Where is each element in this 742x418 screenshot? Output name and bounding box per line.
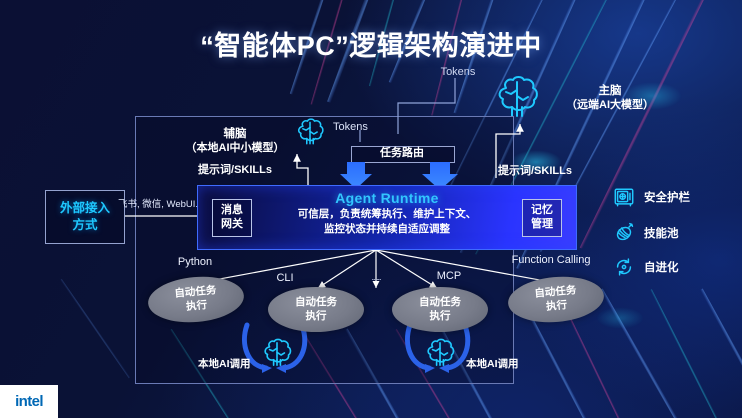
exec-line2: 执行	[306, 310, 327, 322]
evolution-cycle-icon	[613, 256, 635, 278]
capability-row-skill-pool[interactable]: 技能池	[613, 222, 679, 244]
capability-row-self-evolution[interactable]: 自进化	[613, 256, 679, 278]
memory-line1: 记忆	[531, 204, 553, 216]
branch-label-mcp: MCP	[422, 270, 476, 282]
capability-row-guardrail[interactable]: 安全护栏	[613, 186, 690, 208]
local-ai-label-left: 本地AI调用	[198, 356, 251, 371]
exec-line1: 自动任务	[295, 296, 337, 308]
capability-label-guardrail: 安全护栏	[644, 189, 690, 205]
memory-line2: 管理	[531, 218, 553, 230]
brain-icon-local-right	[419, 336, 461, 374]
external-access-box[interactable]: 外部接入 方式	[45, 190, 125, 244]
brain-icon-local-left	[256, 336, 298, 374]
agent-runtime-title: Agent Runtime	[198, 190, 576, 206]
capability-label-self-evolution: 自进化	[644, 259, 679, 275]
gateway-line1: 消息	[221, 204, 243, 216]
intel-wordmark: intel	[15, 393, 43, 410]
external-channels-label: 飞书, 微信, WebUI...	[118, 196, 203, 210]
exec-line1: 自动任务	[419, 296, 461, 308]
branch-label-python: Python	[160, 256, 230, 268]
runtime-desc-line2: 监控状态并持续自适应调整	[324, 223, 450, 235]
external-access-line2: 方式	[72, 218, 97, 232]
auto-task-ellipse-mcp[interactable]: 自动任务 执行	[392, 287, 488, 332]
branch-label-ellipsis: ......	[352, 272, 400, 282]
runtime-desc-line1: 可信层，负责统筹执行、维护上下文、	[298, 208, 477, 220]
local-ai-label-right: 本地AI调用	[466, 356, 519, 371]
slide-canvas: “智能体PC”逻辑架构演进中 Tokens 主脑 （远端AI大模型） 辅脑 （本…	[0, 0, 742, 418]
exec-line2: 执行	[430, 310, 451, 322]
exec-line1: 自动任务	[174, 285, 217, 301]
memory-management-chip[interactable]: 记忆 管理	[522, 199, 562, 237]
branch-label-function-calling: Function Calling	[496, 254, 606, 266]
agent-runtime-description: 可信层，负责统筹执行、维护上下文、 监控状态并持续自适应调整	[258, 207, 516, 237]
exec-line2: 执行	[546, 299, 568, 313]
agent-runtime-panel[interactable]: Agent Runtime 可信层，负责统筹执行、维护上下文、 监控状态并持续自…	[197, 185, 577, 250]
external-access-line1: 外部接入	[60, 201, 110, 215]
safe-vault-icon	[613, 186, 635, 208]
intel-logo: intel	[0, 385, 58, 418]
exec-line2: 执行	[186, 299, 208, 313]
auto-task-ellipse-cli[interactable]: 自动任务 执行	[268, 287, 364, 332]
skill-pool-icon	[613, 222, 635, 244]
branch-label-cli: CLI	[258, 272, 312, 284]
message-gateway-chip[interactable]: 消息 网关	[212, 199, 252, 237]
capability-label-skill-pool: 技能池	[644, 225, 679, 241]
gateway-line2: 网关	[221, 218, 243, 230]
exec-line1: 自动任务	[534, 285, 577, 301]
